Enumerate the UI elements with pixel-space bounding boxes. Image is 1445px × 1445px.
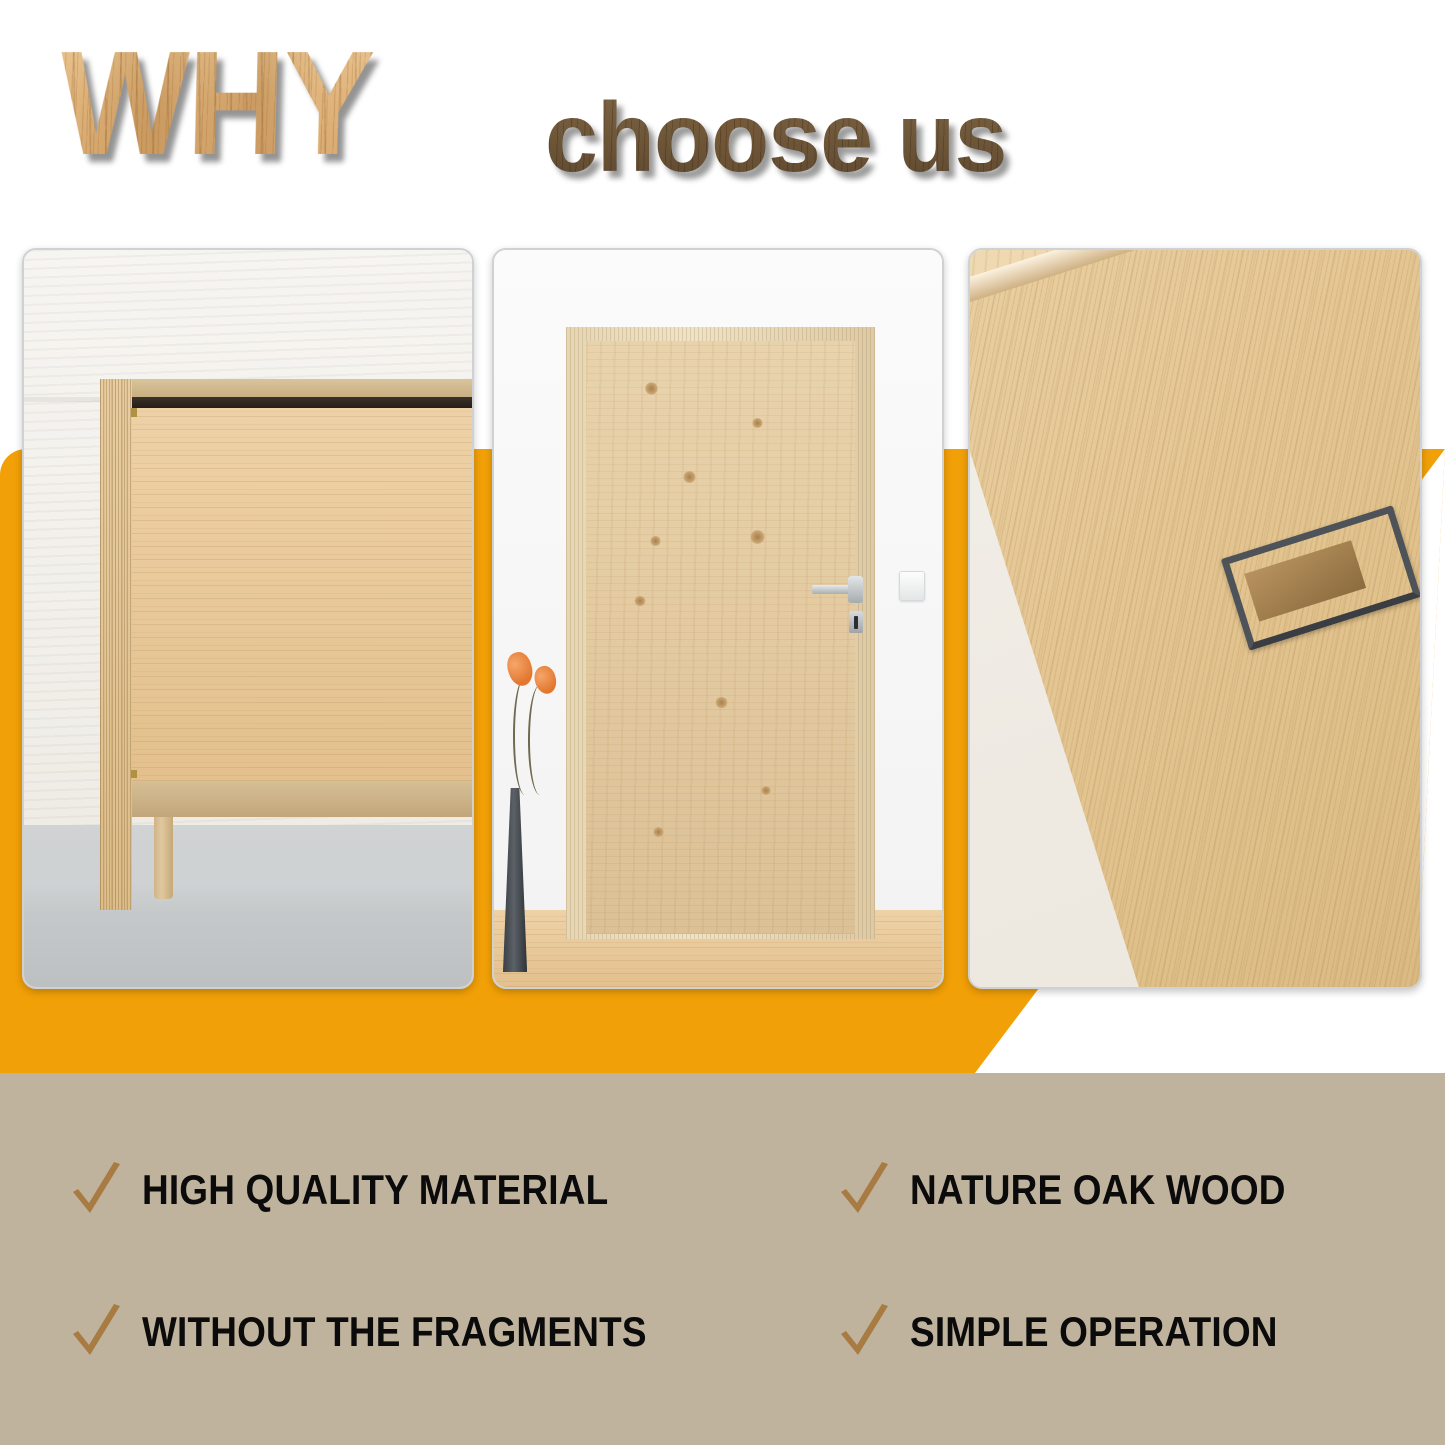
wood-knot-icon (715, 697, 728, 709)
cabinet-top-panel (105, 379, 474, 398)
cabinet-left-post-grain (100, 379, 131, 910)
door-leaf (586, 341, 855, 934)
wood-knot-icon (752, 418, 763, 428)
features-section: HIGH QUALITY MATERIAL NATURE OAK WOOD WI… (0, 1073, 1445, 1445)
gallery-photo-sideboard (22, 248, 474, 989)
wood-knot-icon (761, 786, 772, 795)
check-icon (70, 1303, 124, 1361)
floor-reflection (24, 825, 472, 987)
feature-item-high-quality-material: HIGH QUALITY MATERIAL (70, 1161, 672, 1219)
check-icon (70, 1161, 124, 1219)
photo-gallery (0, 0, 1445, 1000)
feature-label: SIMPLE OPERATION (910, 1310, 1278, 1354)
wood-knot-icon (645, 382, 658, 395)
feature-item-without-the-fragments: WITHOUT THE FRAGMENTS (70, 1303, 715, 1361)
keyhole-icon (854, 616, 858, 629)
wood-knot-icon (650, 536, 661, 545)
feature-label: WITHOUT THE FRAGMENTS (142, 1310, 647, 1354)
feature-item-nature-oak-wood: NATURE OAK WOOD (838, 1161, 1337, 1219)
cabinet-hinge-bottom (131, 770, 137, 778)
check-icon (838, 1161, 892, 1219)
feature-label: HIGH QUALITY MATERIAL (142, 1168, 608, 1212)
cabinet-hinge-top (131, 408, 137, 416)
flower-stem (528, 685, 552, 796)
wood-knot-icon (653, 827, 664, 836)
cabinet-door-panel (132, 397, 474, 780)
cabinet-shadow-gap (132, 397, 474, 407)
feature-label: NATURE OAK WOOD (910, 1168, 1286, 1212)
gallery-photo-oak-door (492, 248, 944, 989)
wood-knot-icon (683, 471, 696, 483)
light-switch (899, 571, 924, 601)
door-handle-rosette (848, 576, 863, 603)
gallery-photo-drawer-handle (968, 248, 1422, 989)
cabinet-bottom-rail (105, 781, 474, 818)
cabinet-front-leg (154, 817, 173, 898)
wood-knot-icon (634, 596, 646, 607)
check-icon (838, 1303, 892, 1361)
infographic-canvas: WHY choose us (0, 0, 1445, 1445)
feature-item-simple-operation: SIMPLE OPERATION (838, 1303, 1328, 1361)
wood-knot-icon (750, 530, 765, 544)
